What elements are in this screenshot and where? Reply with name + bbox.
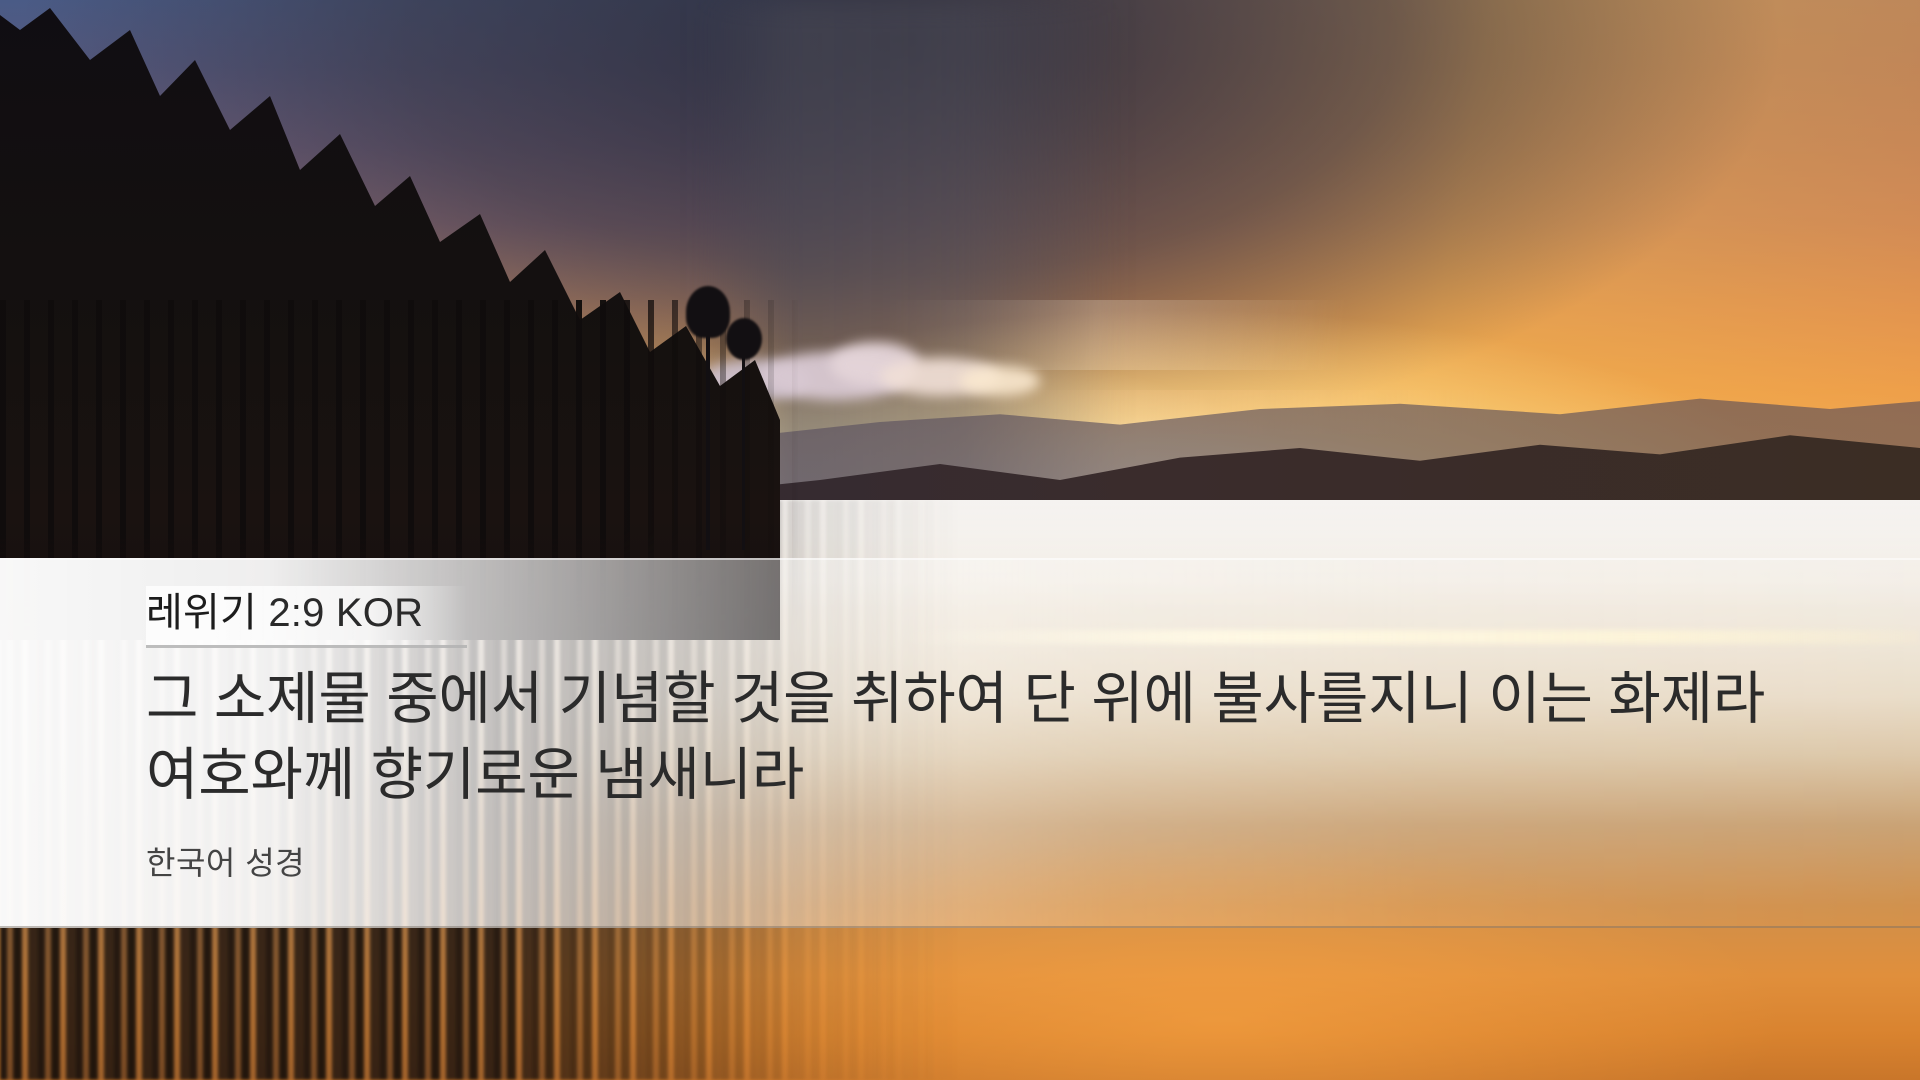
verse-content: 레위기 2:9 KOR 그 소제물 중에서 기념할 것을 취하여 단 위에 불사…: [0, 558, 1920, 928]
bible-credit-label: 한국어 성경: [146, 838, 1920, 884]
verse-reference-book: 레위기: [146, 591, 257, 635]
verse-reference-translation: KOR: [336, 591, 423, 635]
lone-tree-trunk: [706, 300, 710, 550]
verse-image-canvas: 레위기 2:9 KOR 그 소제물 중에서 기념할 것을 취하여 단 위에 불사…: [0, 0, 1920, 1080]
verse-reference-plate: 레위기 2:9 KOR: [146, 586, 467, 648]
lone-tree-trunk: [742, 330, 745, 550]
verse-reference: 레위기 2:9 KOR: [146, 590, 423, 636]
verse-text: 그 소제물 중에서 기념할 것을 취하여 단 위에 불사를지니 이는 화제라 여…: [146, 662, 1920, 814]
verse-reference-chapter-verse: 2:9: [268, 591, 324, 635]
cloud-puff: [960, 366, 1040, 396]
